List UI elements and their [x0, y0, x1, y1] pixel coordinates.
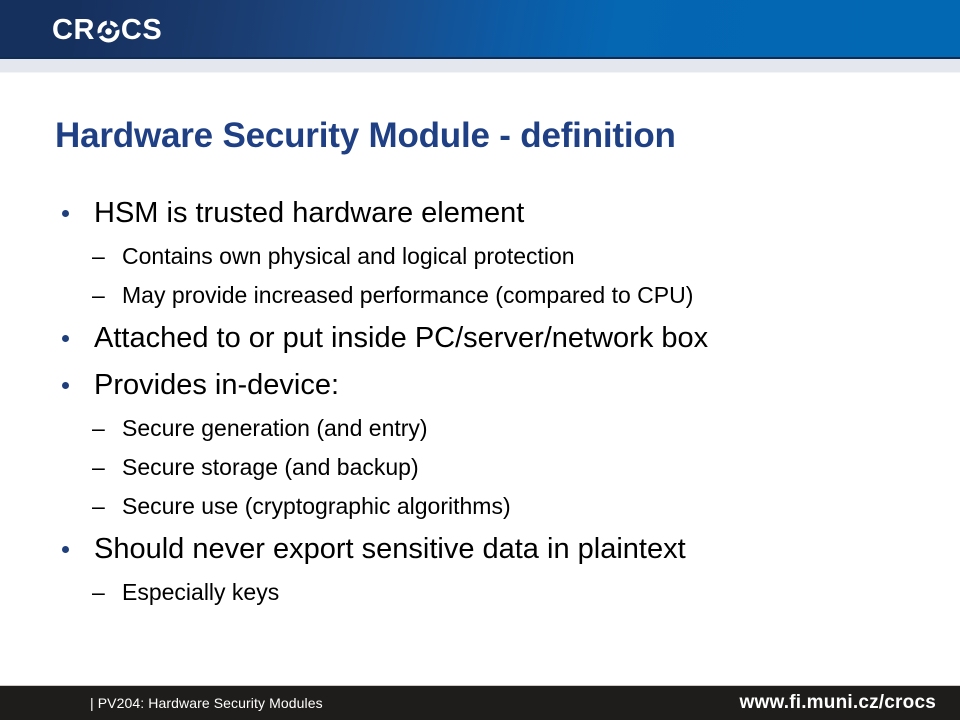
- list-item: – Contains own physical and logical prot…: [0, 237, 960, 276]
- bullet-dot-icon: [62, 315, 72, 362]
- dash-marker-icon: –: [92, 573, 112, 612]
- bullet-dot-icon: [62, 526, 72, 573]
- crocs-logo: CR CS: [52, 14, 162, 46]
- list-item-label: Secure generation (and entry): [122, 415, 428, 441]
- page-title: Hardware Security Module - definition: [55, 116, 915, 156]
- list-item-label: Attached to or put inside PC/server/netw…: [94, 322, 708, 354]
- list-item-label: Secure use (cryptographic algorithms): [122, 493, 511, 519]
- header-subband: [0, 59, 960, 72]
- dash-marker-icon: –: [92, 276, 112, 315]
- list-item-label: Contains own physical and logical protec…: [122, 243, 575, 269]
- dash-marker-icon: –: [92, 409, 112, 448]
- list-item-label: Especially keys: [122, 579, 279, 605]
- list-item-label: May provide increased performance (compa…: [122, 282, 693, 308]
- slide-content: HSM is trusted hardware element – Contai…: [0, 190, 960, 612]
- footer-bar: | PV204: Hardware Security Modules www.f…: [0, 686, 960, 720]
- list-item: – Secure storage (and backup): [0, 448, 960, 487]
- bullet-dot-icon: [62, 190, 72, 237]
- list-item: – May provide increased performance (com…: [0, 276, 960, 315]
- header-subband-edge: [0, 72, 960, 73]
- list-item-label: Provides in-device:: [94, 369, 339, 401]
- list-item-label: HSM is trusted hardware element: [94, 197, 524, 229]
- list-item: Provides in-device:: [0, 362, 960, 409]
- dash-marker-icon: –: [92, 487, 112, 526]
- crocs-target-icon: [96, 19, 121, 44]
- dash-marker-icon: –: [92, 237, 112, 276]
- logo-text-before: CR: [52, 16, 95, 45]
- bullet-dot-icon: [62, 362, 72, 409]
- list-item-label: Should never export sensitive data in pl…: [94, 533, 686, 565]
- list-item: HSM is trusted hardware element: [0, 190, 960, 237]
- list-item: – Secure use (cryptographic algorithms): [0, 487, 960, 526]
- dash-marker-icon: –: [92, 448, 112, 487]
- list-item: – Secure generation (and entry): [0, 409, 960, 448]
- logo-text-after: CS: [121, 16, 162, 45]
- footer-website-link[interactable]: www.fi.muni.cz/crocs: [739, 686, 936, 720]
- list-item-label: Secure storage (and backup): [122, 454, 419, 480]
- footer-course-label: | PV204: Hardware Security Modules: [90, 686, 323, 720]
- list-item: – Especially keys: [0, 573, 960, 612]
- list-item: Should never export sensitive data in pl…: [0, 526, 960, 573]
- list-item: Attached to or put inside PC/server/netw…: [0, 315, 960, 362]
